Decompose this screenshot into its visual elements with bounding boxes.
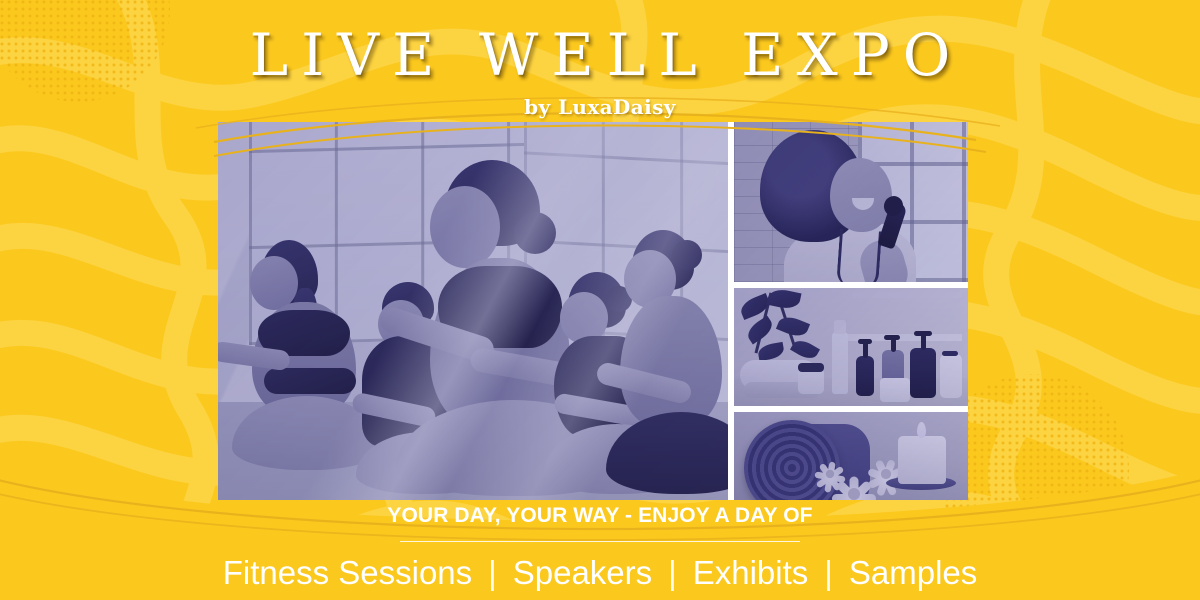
event-banner: LIVE WELL EXPO by LuxaDaisy [0, 0, 1200, 600]
wellness-products-photo [734, 288, 968, 406]
speaker-photo [734, 122, 968, 282]
yoga-class-photo [218, 122, 728, 500]
photo-collage [218, 122, 968, 500]
yoga-mat-photo [734, 412, 968, 500]
collage-side-column [734, 122, 968, 500]
